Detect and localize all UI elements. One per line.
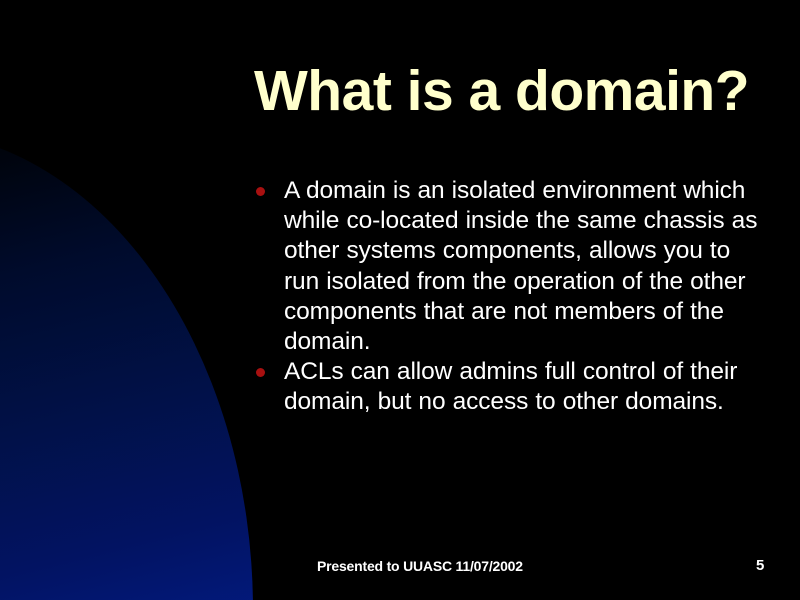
list-item: A domain is an isolated environment whic… <box>252 176 764 357</box>
slide-body: A domain is an isolated environment whic… <box>252 176 764 418</box>
list-item: ACLs can allow admins full control of th… <box>252 357 764 417</box>
slide-page-number: 5 <box>756 557 764 574</box>
round-bullet-icon <box>256 187 265 196</box>
bullet-text: A domain is an isolated environment whic… <box>284 176 764 357</box>
presentation-slide: What is a domain? A domain is an isolate… <box>0 0 800 600</box>
blue-arc-ellipse <box>0 130 253 600</box>
footer-note: Presented to UUASC 11/07/2002 <box>317 558 523 574</box>
slide-title: What is a domain? <box>254 62 774 122</box>
round-bullet-icon <box>256 368 265 377</box>
bullet-text: ACLs can allow admins full control of th… <box>284 357 764 417</box>
